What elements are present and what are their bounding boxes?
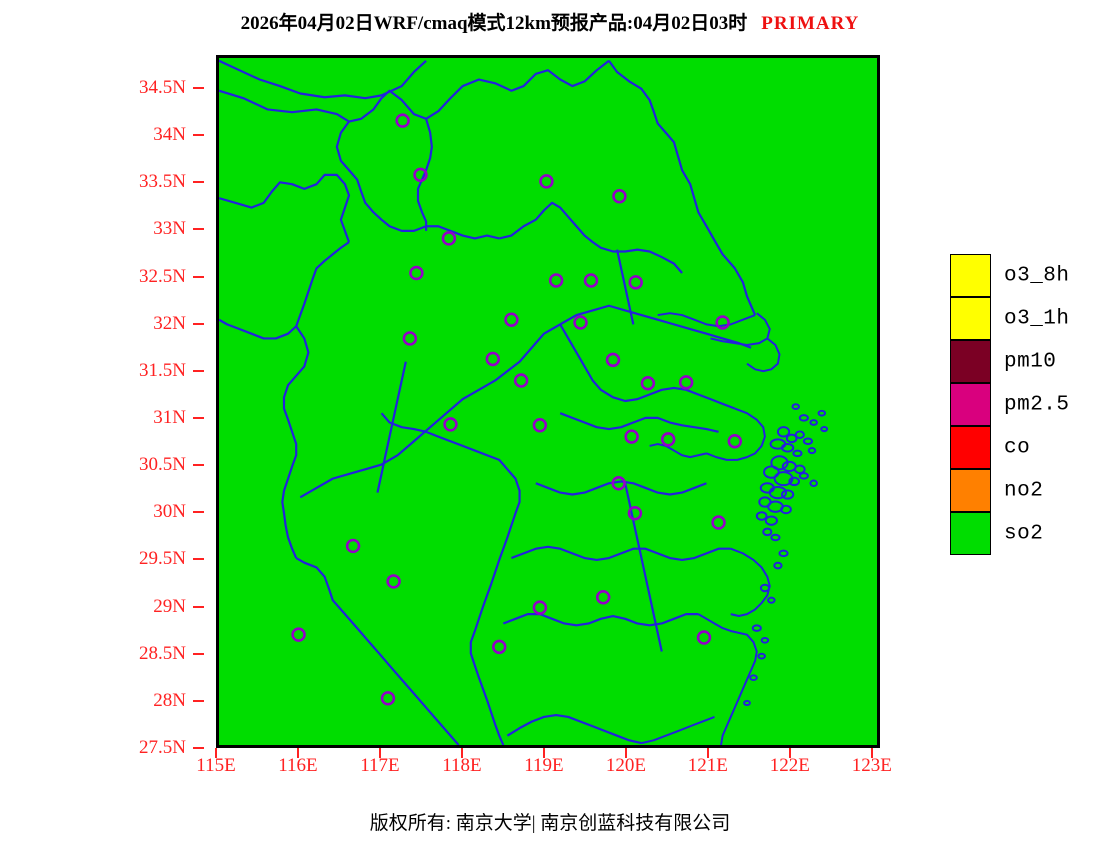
city-marker[interactable]: [597, 591, 609, 603]
boundary-line: [382, 413, 520, 745]
city-marker[interactable]: [575, 317, 587, 329]
longitude-tick-mark: [461, 748, 463, 758]
boundary-line: [641, 717, 714, 743]
island-outline: [771, 439, 786, 448]
city-marker[interactable]: [293, 629, 305, 641]
city-marker[interactable]: [505, 314, 517, 326]
city-marker[interactable]: [585, 275, 597, 287]
city-marker[interactable]: [382, 692, 394, 704]
boundary-line: [300, 306, 751, 498]
island-outline: [757, 512, 767, 520]
longitude-tick-mark: [543, 748, 545, 758]
longitude-tick-mark: [707, 748, 709, 758]
legend-color-swatch: [950, 469, 991, 512]
city-marker[interactable]: [614, 190, 626, 202]
boundary-line: [503, 614, 698, 625]
island-outline: [792, 404, 799, 409]
island-outline: [804, 438, 812, 444]
boundary-line: [219, 175, 349, 242]
city-marker[interactable]: [540, 175, 552, 187]
longitude-tick-mark: [871, 748, 873, 758]
boundary-line: [560, 324, 735, 408]
longitude-tick-label: 120E: [606, 755, 646, 777]
longitude-tick-mark: [625, 748, 627, 758]
island-outline: [761, 585, 769, 592]
legend-item-label: o3_1h: [1004, 307, 1070, 330]
city-marker[interactable]: [443, 232, 455, 244]
island-outline: [763, 529, 771, 536]
island-outline: [768, 598, 775, 603]
island-outline: [753, 625, 761, 631]
city-marker-layer: [293, 115, 741, 705]
longitude-tick-label: 121E: [688, 755, 728, 777]
boundary-line: [219, 61, 426, 98]
city-marker[interactable]: [388, 575, 400, 587]
forecast-map[interactable]: [216, 55, 880, 748]
boundary-line: [609, 61, 755, 315]
city-marker[interactable]: [642, 377, 654, 389]
legend-item-label: o3_8h: [1004, 264, 1070, 287]
boundary-line: [296, 558, 458, 745]
city-marker[interactable]: [680, 376, 692, 388]
legend-color-swatch: [950, 426, 991, 469]
island-outline: [758, 654, 765, 659]
island-outline: [766, 516, 777, 524]
island-outline: [783, 462, 796, 471]
map-canvas: [219, 58, 877, 745]
island-outline: [821, 427, 827, 431]
island-outline: [810, 481, 817, 487]
city-marker[interactable]: [626, 431, 638, 443]
longitude-tick-mark: [789, 748, 791, 758]
island-outline: [809, 448, 816, 453]
city-marker[interactable]: [445, 418, 457, 430]
legend-color-swatch: [950, 297, 991, 340]
longitude-tick-label: 122E: [770, 755, 810, 777]
island-shapes: [744, 404, 827, 705]
longitude-tick-mark: [215, 748, 217, 758]
city-marker[interactable]: [717, 317, 729, 329]
city-marker[interactable]: [630, 276, 642, 288]
longitude-tick-mark: [379, 748, 381, 758]
legend-color-swatch: [950, 512, 991, 555]
city-marker[interactable]: [662, 433, 674, 445]
longitude-tick-label: 123E: [852, 755, 892, 777]
boundary-line: [418, 119, 432, 231]
legend-item-label: so2: [1004, 522, 1043, 545]
legend-color-swatch: [950, 383, 991, 426]
city-marker[interactable]: [515, 375, 527, 387]
island-outline: [793, 451, 801, 457]
legend-item-label: no2: [1004, 479, 1043, 502]
island-outline: [762, 638, 769, 643]
legend-color-swatch: [950, 254, 991, 297]
longitude-tick-label: 116E: [278, 755, 317, 777]
boundary-line: [650, 444, 707, 457]
city-marker[interactable]: [404, 333, 416, 345]
longitude-tick-mark: [297, 748, 299, 758]
island-outline: [795, 466, 805, 474]
island-outline: [744, 701, 750, 705]
island-outline: [800, 473, 808, 479]
city-marker[interactable]: [698, 632, 710, 644]
island-outline: [774, 563, 781, 569]
island-outline: [782, 490, 793, 498]
coastline: [641, 313, 779, 745]
copyright-footer: 版权所有: 南京大学| 南京创蓝科技有限公司: [0, 808, 1100, 835]
longitude-tick-label: 117E: [360, 755, 399, 777]
city-marker[interactable]: [493, 641, 505, 653]
forecast-map-page: 2026年04月02日WRF/cmaq模式12km预报产品:04月02日03时P…: [0, 0, 1100, 850]
administrative-boundaries: [219, 61, 755, 745]
city-marker[interactable]: [410, 267, 422, 279]
city-marker[interactable]: [729, 435, 741, 447]
boundary-line: [219, 61, 609, 122]
city-marker[interactable]: [713, 517, 725, 529]
longitude-tick-label: 118E: [442, 755, 481, 777]
island-outline: [810, 420, 817, 425]
longitude-tick-label: 115E: [196, 755, 235, 777]
island-outline: [796, 431, 804, 438]
legend-color-swatch: [950, 340, 991, 383]
boundary-line: [282, 326, 308, 558]
island-outline: [750, 675, 757, 680]
city-marker[interactable]: [397, 115, 409, 127]
longitude-tick-label: 119E: [524, 755, 563, 777]
city-marker[interactable]: [550, 275, 562, 287]
boundary-line: [511, 547, 730, 560]
city-marker[interactable]: [347, 540, 359, 552]
island-outline: [800, 415, 808, 421]
city-marker[interactable]: [487, 353, 499, 365]
legend-item-label: co: [1004, 436, 1030, 459]
island-outline: [771, 535, 779, 541]
city-marker[interactable]: [534, 419, 546, 431]
island-outline: [819, 411, 826, 416]
city-marker[interactable]: [534, 602, 546, 614]
boundary-line: [499, 203, 682, 273]
city-marker[interactable]: [607, 354, 619, 366]
boundary-line: [731, 549, 770, 616]
boundary-line: [560, 413, 718, 432]
boundary-line: [219, 242, 349, 338]
legend-item-label: pm2.5: [1004, 393, 1070, 416]
legend-item-label: pm10: [1004, 350, 1056, 373]
boundary-line: [507, 715, 641, 743]
island-outline: [779, 551, 787, 557]
